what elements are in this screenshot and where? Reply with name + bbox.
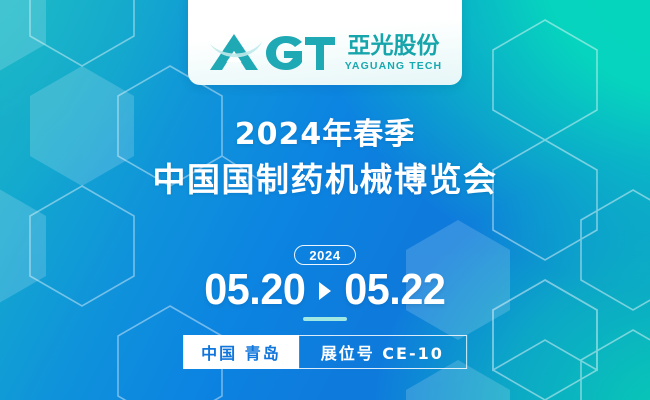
booth-box: 展位号 CE-10 (299, 335, 467, 369)
date-underline (303, 317, 347, 321)
headline-line-2: 中国国制药机械博览会 (0, 162, 650, 199)
venue-box: 中国 青岛 (183, 335, 299, 369)
date-range: 05.20 05.22 (0, 268, 650, 312)
date-start: 05.20 (205, 268, 306, 312)
logo-card: 亞光股份 YAGUANG TECH (188, 0, 462, 85)
footer-bar: 中国 青岛 展位号 CE-10 (183, 335, 467, 369)
play-arrow-icon (319, 282, 331, 300)
logo-company-cn: 亞光股份 (348, 35, 440, 58)
logo-lockup: 亞光股份 YAGUANG TECH (208, 32, 442, 72)
exhibition-banner: 亞光股份 YAGUANG TECH 2024年春季 中国国制药机械博览会 202… (0, 0, 650, 400)
year-badge: 2024 (294, 245, 356, 265)
logo-company-en: YAGUANG TECH (345, 61, 442, 72)
logo-text-block: 亞光股份 YAGUANG TECH (345, 33, 442, 72)
headline-line-1: 2024年春季 (0, 118, 650, 152)
date-end: 05.22 (344, 268, 445, 312)
headline: 2024年春季 中国国制药机械博览会 (0, 118, 650, 199)
agt-triangle-logo-icon (208, 32, 336, 72)
